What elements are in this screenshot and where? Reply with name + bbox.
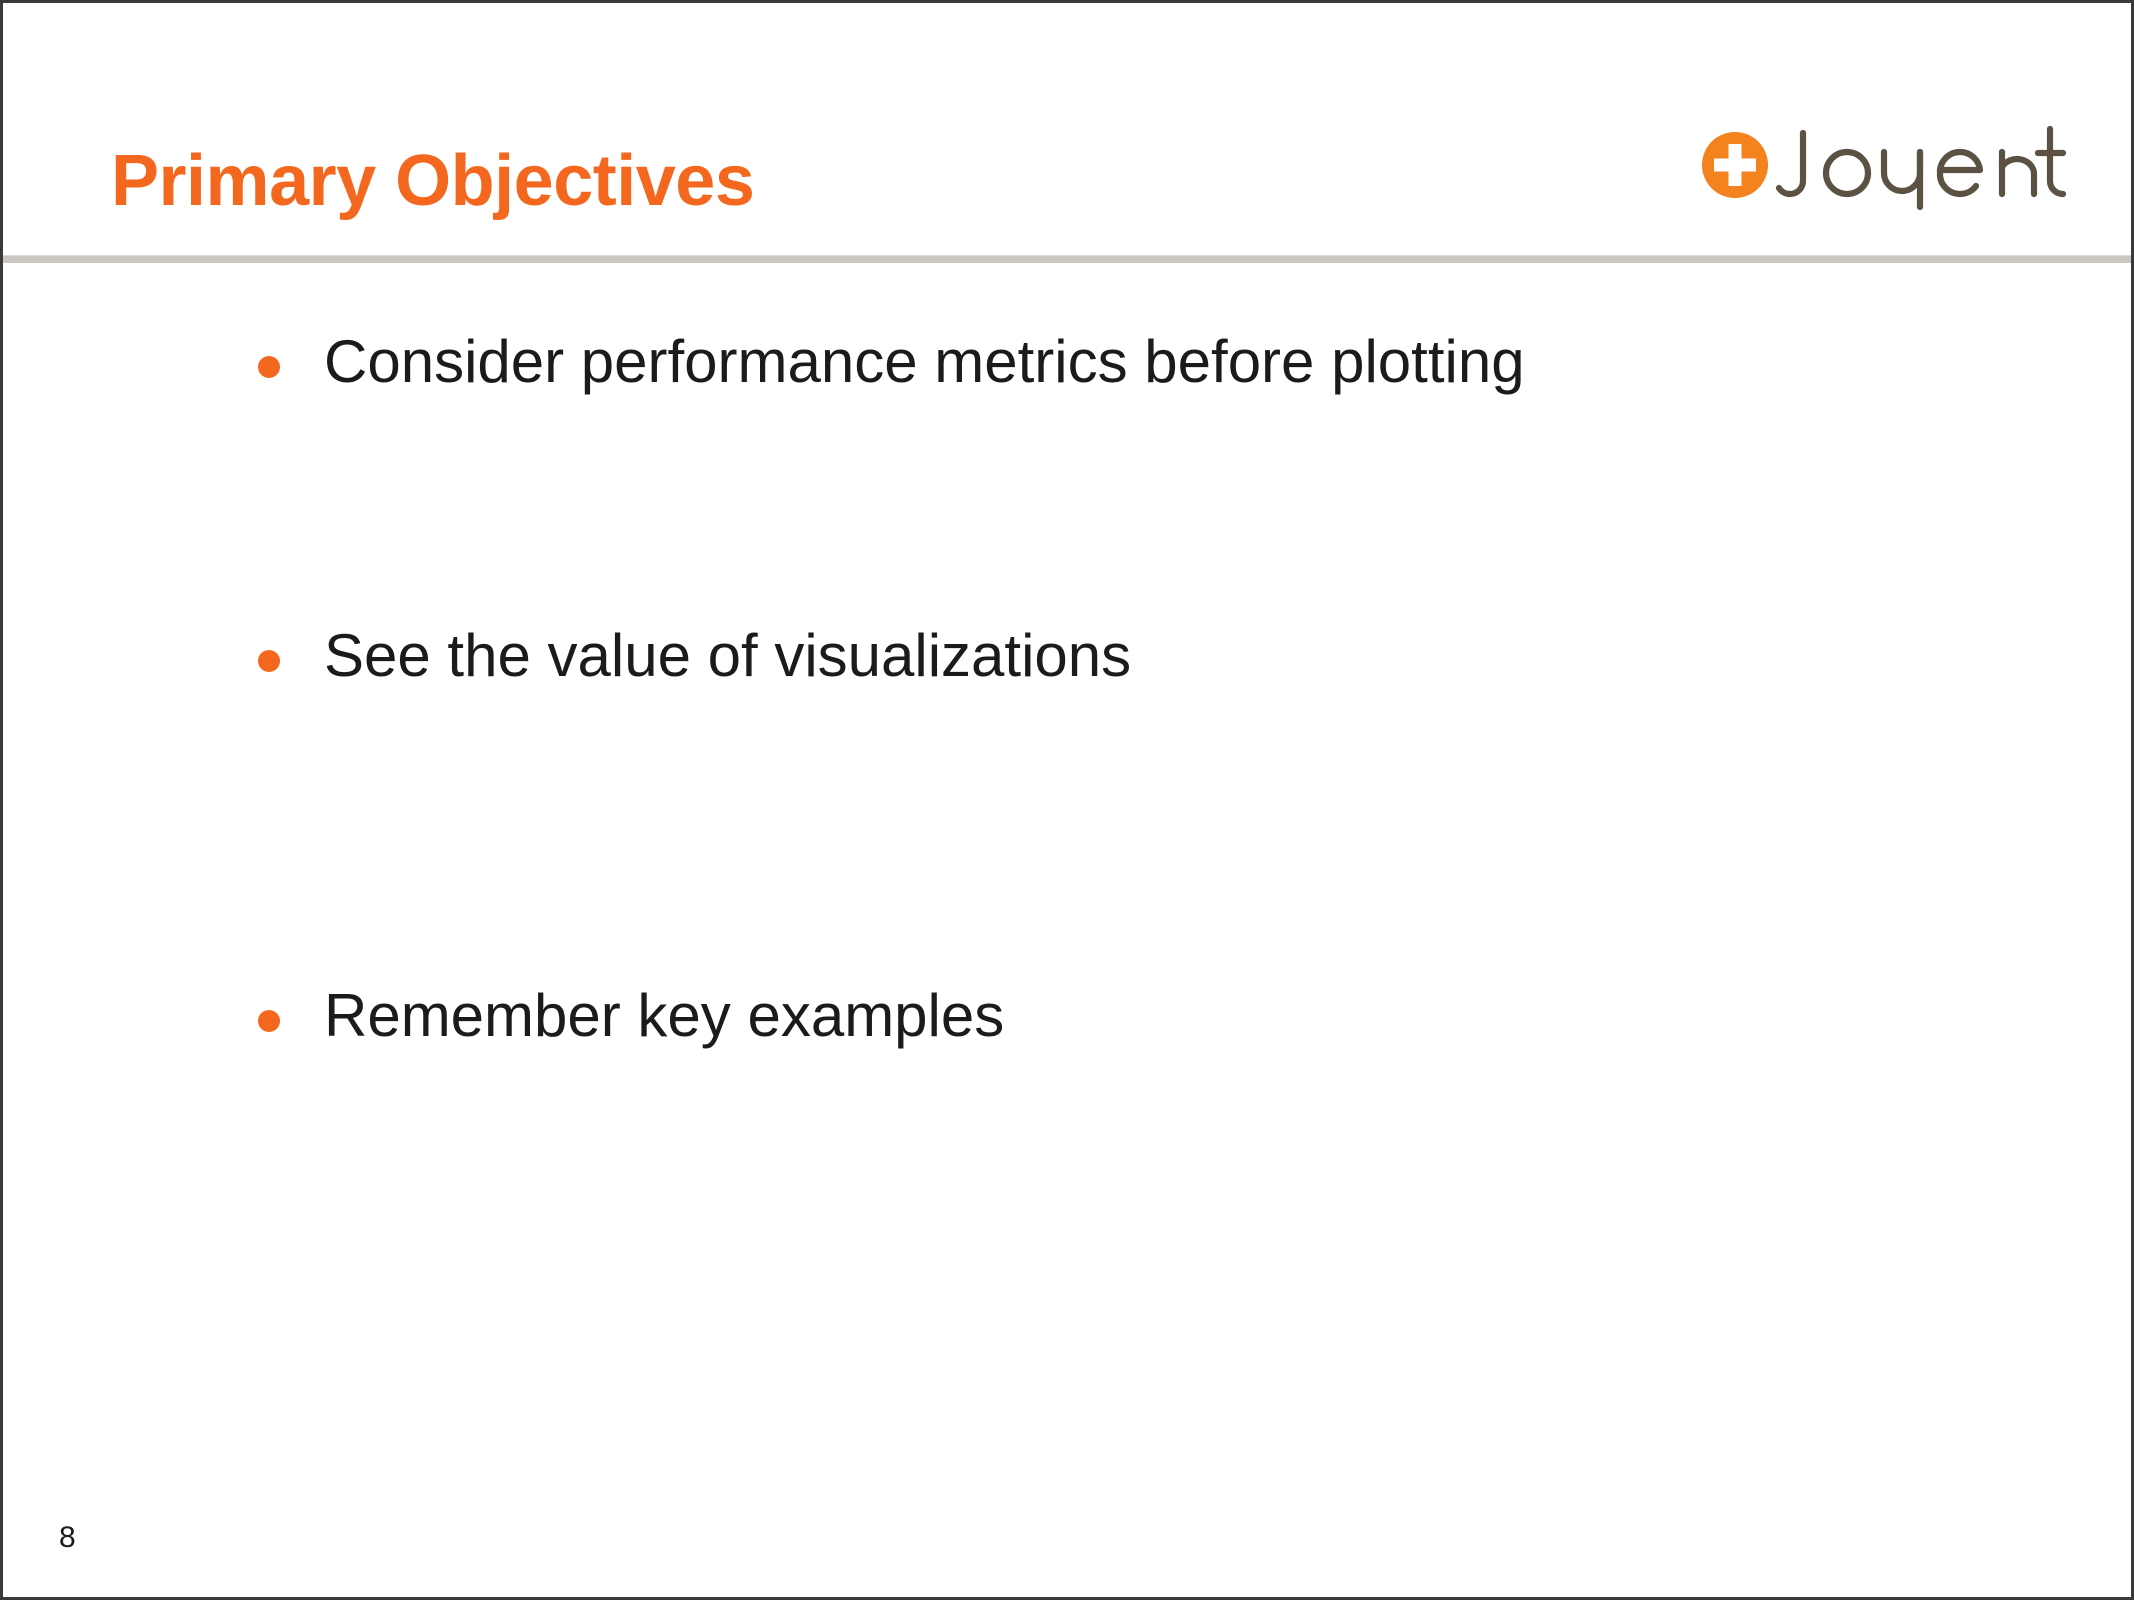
bullet-text: Remember key examples xyxy=(324,982,1004,1049)
bullet-list: Consider performance metrics before plot… xyxy=(258,262,1958,1342)
list-item: See the value of visualizations xyxy=(258,622,1958,982)
slide: Primary Objectives xyxy=(0,0,2134,1600)
joyent-logo xyxy=(1701,125,2073,205)
slide-body: Consider performance metrics before plot… xyxy=(3,262,2131,1597)
plus-in-circle-icon xyxy=(1701,131,1769,199)
page-number: 8 xyxy=(59,1523,76,1553)
list-item: Consider performance metrics before plot… xyxy=(258,262,1958,622)
bullet-text: See the value of visualizations xyxy=(324,622,1131,689)
bullet-dot-icon xyxy=(258,650,280,672)
slide-header: Primary Objectives xyxy=(3,3,2131,258)
list-item: Remember key examples xyxy=(258,982,1958,1342)
page-title: Primary Objectives xyxy=(111,145,754,217)
bullet-text: Consider performance metrics before plot… xyxy=(324,328,1525,395)
joyent-wordmark xyxy=(1773,115,2073,216)
bullet-dot-icon xyxy=(258,356,280,378)
bullet-dot-icon xyxy=(258,1010,280,1032)
